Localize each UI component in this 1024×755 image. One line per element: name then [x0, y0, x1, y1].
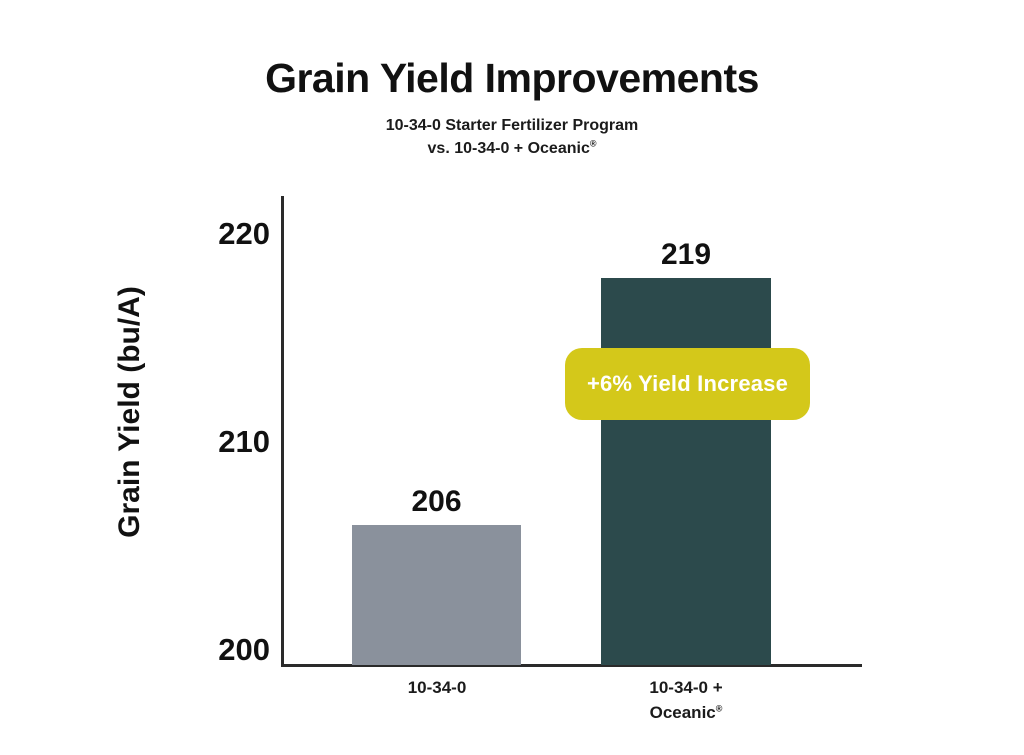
y-tick-label-200: 200 [160, 632, 270, 668]
registered-trademark-icon: ® [716, 703, 723, 713]
chart-subtitle-line-2: vs. 10-34-0 + Oceanic® [0, 137, 1024, 160]
y-axis-title: Grain Yield (bu/A) [113, 202, 147, 622]
bar-group-1[interactable]: 206 [352, 525, 521, 665]
chart-subtitle: 10-34-0 Starter Fertilizer Program vs. 1… [0, 114, 1024, 160]
x-axis-category-label-2-line-2: Oceanic® [541, 701, 831, 726]
registered-trademark-icon: ® [590, 139, 597, 149]
x-axis-category-label-1: 10-34-0 [292, 676, 582, 701]
x-axis-category-label-2: 10-34-0 + Oceanic® [541, 676, 831, 725]
bar-group-2[interactable]: 219 [601, 278, 771, 665]
bar-rect-2[interactable] [601, 278, 771, 665]
x-axis-category-label-2-line-2-text: Oceanic [650, 703, 716, 722]
y-tick-label-220: 220 [160, 216, 270, 252]
plot-area: 206 219 [281, 196, 862, 665]
yield-increase-badge: +6% Yield Increase [565, 348, 810, 420]
x-axis-category-label-1-line-1: 10-34-0 [408, 678, 467, 697]
chart-subtitle-line-2-text: vs. 10-34-0 + Oceanic [428, 140, 590, 157]
y-tick-label-210: 210 [160, 424, 270, 460]
bar-value-label-1: 206 [352, 485, 521, 519]
x-axis-category-label-2-line-1: 10-34-0 + [649, 678, 722, 697]
chart-title: Grain Yield Improvements [0, 57, 1024, 100]
bar-rect-1[interactable] [352, 525, 521, 665]
chart-subtitle-line-1: 10-34-0 Starter Fertilizer Program [386, 117, 639, 134]
bar-value-label-2: 219 [601, 238, 771, 272]
chart-canvas: Grain Yield Improvements 10-34-0 Starter… [0, 0, 1024, 755]
